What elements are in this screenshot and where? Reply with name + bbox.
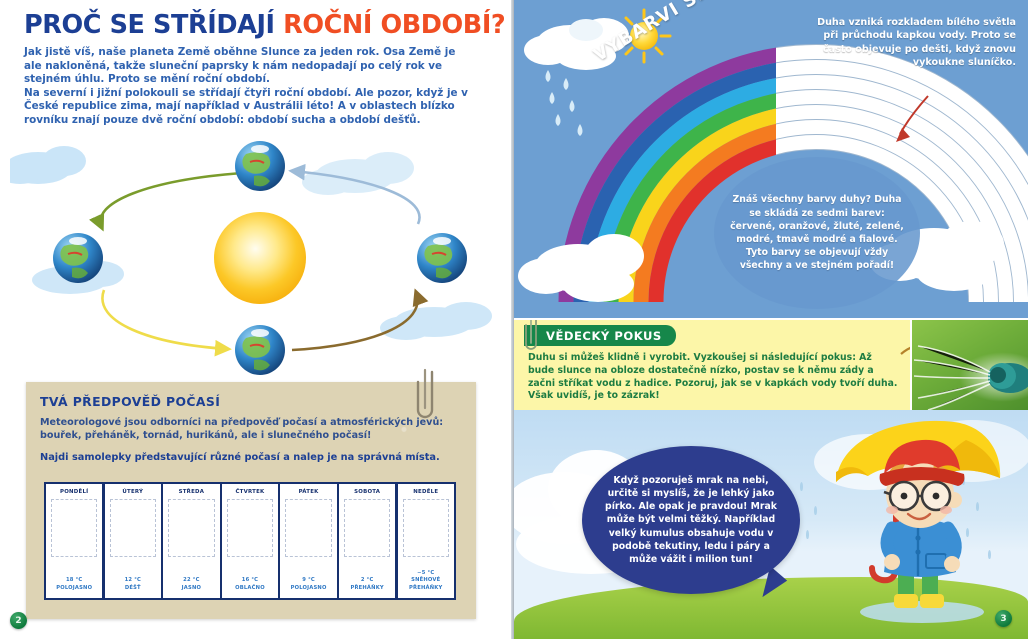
- table-column-friday[interactable]: PÁTEK 9 °C POLOJASNO: [280, 484, 336, 598]
- page-number-left: 2: [10, 612, 27, 629]
- hose-nozzle-icon: [912, 320, 1028, 410]
- weather-card-title: TVÁ PŘEDPOVĚĎ POČASÍ: [40, 394, 466, 409]
- eye-right: [933, 493, 940, 500]
- rain-drop-icon: [800, 482, 803, 491]
- column-header: STŘEDA: [179, 489, 205, 495]
- column-header: ČTVRTEK: [235, 489, 264, 495]
- sticker-slot[interactable]: [227, 499, 273, 557]
- rainbow-colors-bubble: Znáš všechny barvy duhy? Duha se skládá …: [714, 157, 920, 309]
- condition: SNĚHOVÉ PŘEHÁŇKY: [400, 577, 452, 592]
- temperature: 9 °C: [282, 577, 334, 584]
- sticker-slot[interactable]: [344, 499, 390, 557]
- experiment-tab-label: VĚDECKÝ POKUS: [524, 325, 676, 346]
- temperature: 12 °C: [107, 577, 159, 584]
- hand-left: [884, 554, 900, 570]
- table-column-monday[interactable]: PONDĚLÍ 18 °C POLOJASNO: [46, 484, 102, 598]
- table-column-thursday[interactable]: ČTVRTEK 16 °C OBLAČNO: [222, 484, 278, 598]
- condition: OBLAČNO: [224, 585, 276, 592]
- boot-left: [894, 594, 918, 608]
- condition: DÉŠŤ: [107, 585, 159, 592]
- orbit-svg: [10, 140, 510, 380]
- page-title-blue: PROČ SE STŘÍDAJÍ: [24, 10, 275, 40]
- weather-forecast-card: TVÁ PŘEDPOVĚĎ POČASÍ Meteorologové jsou …: [26, 382, 476, 619]
- sticker-slot[interactable]: [51, 499, 97, 557]
- condition: POLOJASNO: [282, 585, 334, 592]
- condition: PŘEHÁŇKY: [341, 585, 393, 592]
- left-page: PROČ SE STŘÍDAJÍ ROČNÍ OBDOBÍ? Jak jistě…: [0, 0, 514, 639]
- right-page: VYBARVI SI DUHU Duha vzniká rozkladem bí…: [514, 0, 1028, 639]
- earth-icon-right: [417, 233, 467, 283]
- arm-right: [948, 528, 955, 558]
- cheek-left: [886, 506, 898, 514]
- sticker-slot[interactable]: [285, 499, 331, 557]
- cloud-left-base: [518, 234, 644, 302]
- page-title: PROČ SE STŘÍDAJÍ ROČNÍ OBDOBÍ?: [24, 12, 494, 39]
- forecast-values: 9 °C POLOJASNO: [282, 577, 334, 592]
- temperature: 16 °C: [224, 577, 276, 584]
- rainbow-caption: Duha vzniká rozkladem bílého světla při …: [806, 16, 1016, 70]
- rain-drop-icon: [806, 530, 809, 539]
- column-header: ÚTERÝ: [122, 489, 143, 495]
- boot-right: [920, 594, 944, 608]
- rain-drop-icon: [814, 506, 817, 515]
- earth-icon-left: [53, 233, 103, 283]
- temperature: 2 °C: [341, 577, 393, 584]
- page-title-orange: ROČNÍ OBDOBÍ?: [283, 10, 505, 40]
- forecast-values: 16 °C OBLAČNO: [224, 577, 276, 592]
- column-header: SOBOTA: [354, 489, 380, 495]
- column-header: NEDĚLE: [413, 489, 438, 495]
- cloud-weight-text: Když pozoruješ mrak na nebi, určitě si m…: [582, 474, 800, 566]
- jacket-button: [915, 535, 920, 540]
- intro-paragraph-1: Jak jistě víš, naše planeta Země oběhne …: [24, 46, 476, 87]
- cloud-weight-bubble: Když pozoruješ mrak na nebi, určitě si m…: [582, 446, 800, 594]
- rainbow-colors-text: Znáš všechny barvy duhy? Duha se skládá …: [714, 193, 920, 272]
- orbit-arrow-3: [102, 290, 228, 349]
- temperature: 22 °C: [165, 577, 217, 584]
- forecast-values: 18 °C POLOJASNO: [48, 577, 100, 592]
- weather-card-instruction: Najdi samolepky představující různé poča…: [40, 452, 466, 463]
- earth-icon-top: [235, 141, 285, 191]
- eye-left: [901, 493, 908, 500]
- table-column-tuesday[interactable]: ÚTERÝ 12 °C DÉŠŤ: [105, 484, 161, 598]
- column-header: PÁTEK: [299, 489, 319, 495]
- intro-text: Jak jistě víš, naše planeta Země oběhne …: [24, 46, 476, 128]
- table-column-saturday[interactable]: SOBOTA 2 °C PŘEHÁŇKY: [339, 484, 395, 598]
- arm-left: [887, 528, 892, 556]
- table-column-sunday[interactable]: NEDĚLE −5 °C SNĚHOVÉ PŘEHÁŇKY: [398, 484, 454, 598]
- experiment-text: Duhu si můžeš klidně i vyrobit. Vyzkouše…: [528, 352, 900, 403]
- temperature: 18 °C: [48, 577, 100, 584]
- hose-photo: [910, 320, 1028, 410]
- experiment-panel: VĚDECKÝ POKUS Duhu si můžeš klidně i vyr…: [514, 318, 1028, 410]
- column-header: PONDĚLÍ: [60, 489, 88, 495]
- cheek-right: [940, 506, 952, 514]
- rain-drops: [546, 70, 583, 136]
- earth-icon-bottom: [235, 325, 285, 375]
- sun-icon: [214, 212, 306, 304]
- condition: JASNO: [165, 585, 217, 592]
- paperclip-icon: [522, 318, 544, 358]
- rainbow-panel: VYBARVI SI DUHU Duha vzniká rozkladem bí…: [514, 0, 1028, 318]
- sticker-slot[interactable]: [403, 499, 449, 557]
- hand-right: [944, 556, 960, 572]
- sticker-slot[interactable]: [168, 499, 214, 557]
- condition: POLOJASNO: [48, 585, 100, 592]
- earth-orbit-diagram: [10, 140, 510, 380]
- forecast-values: −5 °C SNĚHOVÉ PŘEHÁŇKY: [400, 570, 452, 592]
- sticker-slot[interactable]: [110, 499, 156, 557]
- book-spread: PROČ SE STŘÍDAJÍ ROČNÍ OBDOBÍ? Jak jistě…: [0, 0, 1028, 639]
- weekly-forecast-table: PONDĚLÍ 18 °C POLOJASNO ÚTERÝ 12 °C DÉŠŤ: [44, 482, 456, 600]
- jacket-button: [915, 549, 920, 554]
- forecast-values: 12 °C DÉŠŤ: [107, 577, 159, 592]
- table-column-wednesday[interactable]: STŘEDA 22 °C JASNO: [163, 484, 219, 598]
- forecast-values: 22 °C JASNO: [165, 577, 217, 592]
- orbit-arrow-1: [100, 173, 242, 228]
- cloud-weight-scene: Když pozoruješ mrak na nebi, určitě si m…: [514, 410, 1028, 639]
- weather-card-body: Meteorologové jsou odborníci na předpově…: [40, 417, 466, 442]
- boy-with-umbrella-illustration: [830, 416, 1006, 634]
- intro-paragraph-2: Na severní i jižní polokouli se střídají…: [24, 87, 476, 128]
- forecast-values: 2 °C PŘEHÁŇKY: [341, 577, 393, 592]
